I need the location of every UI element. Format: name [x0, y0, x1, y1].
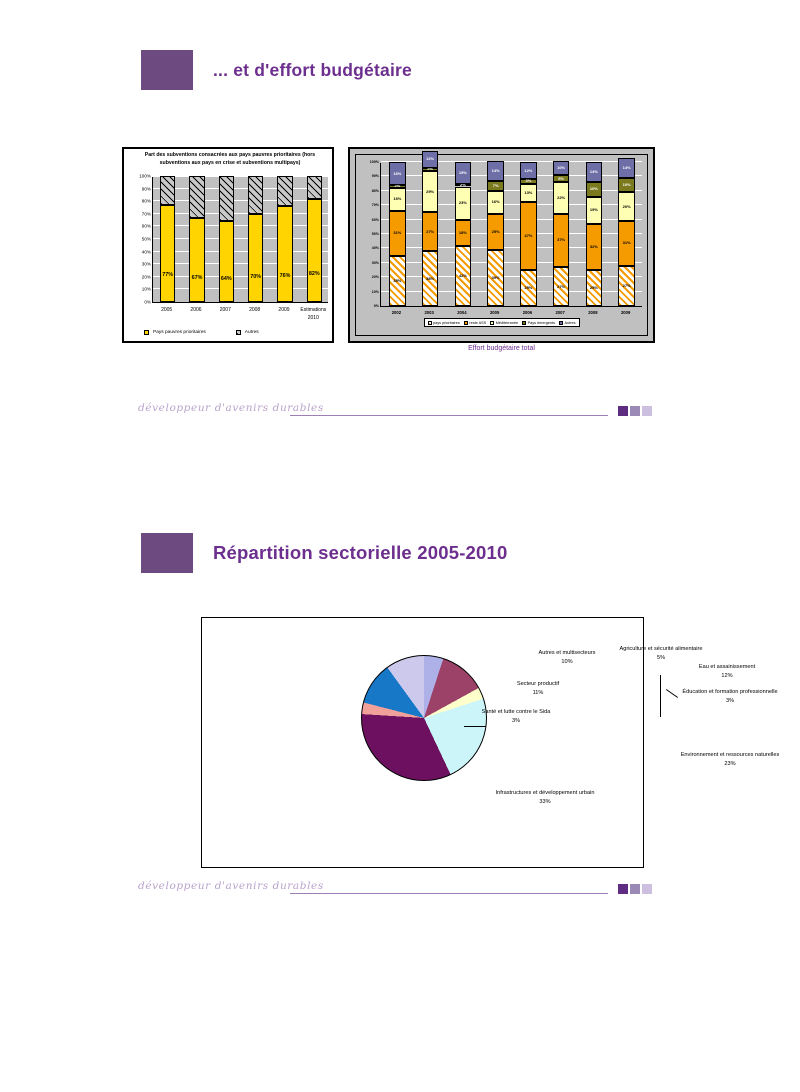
page-title: ... et d'effort budgétaire: [213, 60, 412, 81]
bar-segment: 14%: [618, 158, 634, 178]
bar-segment-pays-pauvres: 70%: [248, 214, 263, 302]
y-tick-label: 80%: [142, 199, 151, 204]
bar-segment: 27%: [422, 212, 438, 251]
y-tick-label: 60%: [372, 218, 379, 222]
y-tick-label: 0%: [374, 304, 379, 308]
gridline: [381, 175, 642, 176]
bar-segment-autres: [307, 176, 322, 199]
y-tick-label: 100%: [370, 160, 379, 164]
y-tick-label: 40%: [372, 246, 379, 250]
bar-group: 77%: [160, 177, 175, 302]
bar-segment: 35%: [389, 256, 405, 306]
bar-value-label: 5%: [558, 177, 564, 181]
footer-divider: [290, 415, 608, 416]
bar-value-label: 12%: [524, 169, 532, 173]
gridline: [381, 190, 642, 191]
bar-segment: 12%: [422, 151, 438, 168]
bar-group: 25%32%19%10%14%: [586, 163, 602, 306]
legend-label: Pays émergents: [528, 321, 555, 325]
legend-label: Méditerranée: [496, 321, 518, 325]
x-tick-label: 2005: [478, 310, 511, 315]
x-tick-label: Estimations 2010: [299, 306, 328, 322]
bar-value-label: 14%: [590, 170, 598, 174]
gridline: [153, 276, 328, 277]
bar-value-label: 10%: [590, 187, 598, 191]
bar-value-label: 22%: [557, 196, 565, 200]
y-tick-label: 20%: [372, 275, 379, 279]
bar-value-label: 67%: [190, 275, 203, 281]
bar-value-label: 16%: [393, 197, 401, 201]
x-tick-label: 2004: [446, 310, 479, 315]
chart2-plot-area: 0%10%20%30%40%50%60%70%80%90%100%35%31%1…: [380, 163, 642, 307]
x-tick-label: 2008: [577, 310, 610, 315]
footer-divider-2: [290, 893, 608, 894]
bar-value-label: 31%: [393, 231, 401, 235]
y-tick-label: 40%: [142, 249, 151, 254]
bar-group: 27%31%20%10%14%: [618, 163, 634, 306]
bar-value-label: 7%: [493, 184, 499, 188]
y-tick-label: 50%: [372, 232, 379, 236]
bar-value-label: 2%: [394, 184, 400, 188]
bar-value-label: 2%: [427, 167, 433, 171]
x-tick-label: 2002: [380, 310, 413, 315]
chart1-title: Part des subventions consacrées aux pays…: [132, 152, 328, 167]
gridline: [153, 200, 328, 201]
bar-segment: 38%: [422, 251, 438, 306]
bar-segment: 16%: [389, 162, 405, 185]
y-tick-label: 90%: [372, 174, 379, 178]
pie-slice-label: Eau et assainissement 12%: [672, 663, 782, 680]
bar-value-label: 35%: [393, 279, 401, 283]
chart2-frame: 0%10%20%30%40%50%60%70%80%90%100%35%31%1…: [355, 154, 648, 336]
bar-value-label: 16%: [492, 200, 500, 204]
y-tick-label: 30%: [372, 261, 379, 265]
bar-value-label: 16%: [393, 172, 401, 176]
legend-label-pays-pauvres: Pays pauvres prioritaires: [153, 330, 206, 335]
bar-value-label: 14%: [492, 169, 500, 173]
bar-value-label: 82%: [308, 271, 321, 277]
bar-value-label: 39%: [492, 276, 500, 280]
bar-value-label: 37%: [557, 238, 565, 242]
x-tick-label: 2007: [544, 310, 577, 315]
bar-group: 42%18%23%2%15%: [455, 163, 471, 306]
gridline: [153, 175, 328, 176]
bar-segment: 13%: [520, 184, 536, 203]
bar-value-label: 3%: [525, 179, 531, 183]
y-tick-label: 10%: [142, 287, 151, 292]
legend-label: Autres: [565, 321, 576, 325]
bar-segment: 22%: [553, 182, 569, 214]
bar-segment-autres: [189, 176, 204, 218]
bar-group: 64%: [219, 177, 234, 302]
bar-segment: 25%: [586, 270, 602, 306]
bar-value-label: 42%: [459, 274, 467, 278]
footer-slide1: développeur d'avenirs durables: [138, 404, 652, 420]
x-tick-label: 2007: [211, 306, 240, 314]
bar-segment: 16%: [389, 188, 405, 211]
gridline: [381, 262, 642, 263]
legend-item: Autres: [559, 321, 575, 325]
x-tick-label: 2006: [181, 306, 210, 314]
legend-item: Méditerranée: [490, 321, 518, 325]
footer-squares: [618, 406, 652, 416]
chart1-plot-area: 0%10%20%30%40%50%60%70%80%90%100%77%67%6…: [152, 177, 328, 303]
bar-segment: 25%: [487, 214, 503, 250]
bar-value-label: 27%: [426, 230, 434, 234]
chart-repartition-sectorielle: Agriculture et sécurité alimentaire 5%Ea…: [201, 617, 644, 868]
bar-value-label: 64%: [220, 276, 233, 282]
bar-segment: 27%: [553, 267, 569, 306]
bar-value-label: 15%: [459, 171, 467, 175]
legend-swatch: [522, 321, 526, 325]
bar-segment: 19%: [586, 197, 602, 224]
leader-line: [464, 726, 486, 727]
gridline: [381, 276, 642, 277]
y-tick-label: 100%: [139, 174, 151, 179]
bar-value-label: 25%: [524, 286, 532, 290]
bar-value-label: 25%: [492, 230, 500, 234]
bar-segment: 32%: [586, 224, 602, 270]
footer-square-2b: [630, 884, 640, 894]
header-accent-square-2: [141, 533, 193, 573]
bar-segment: 2%: [389, 185, 405, 188]
bar-segment: 29%: [422, 171, 438, 213]
slide-page: ... et d'effort budgétaire Part des subv…: [0, 0, 800, 1092]
bar-value-label: 14%: [623, 166, 631, 170]
bar-value-label: 47%: [524, 234, 532, 238]
bar-segment: 3%: [520, 179, 536, 183]
x-tick-label: 2003: [413, 310, 446, 315]
page-title-2: Répartition sectorielle 2005-2010: [213, 542, 508, 564]
bar-group: 27%37%22%5%10%: [553, 163, 569, 306]
y-tick-label: 80%: [372, 189, 379, 193]
footer-tagline: développeur d'avenirs durables: [138, 402, 324, 414]
bar-value-label: 32%: [590, 245, 598, 249]
gridline: [153, 263, 328, 264]
bar-segment: 27%: [618, 266, 634, 306]
bar-segment: 14%: [586, 162, 602, 182]
bar-segment: 2%: [422, 168, 438, 171]
footer-squares-2: [618, 884, 652, 894]
bar-segment: 2%: [455, 184, 471, 187]
bar-segment: 5%: [553, 175, 569, 182]
bar-segment: 7%: [487, 181, 503, 191]
bar-value-label: 70%: [249, 274, 262, 280]
bar-segment: 20%: [618, 192, 634, 221]
gridline: [153, 238, 328, 239]
gridline: [153, 288, 328, 289]
bar-segment: 25%: [520, 270, 536, 306]
bar-segment: 10%: [553, 161, 569, 175]
legend-item: pays prioritaires: [428, 321, 460, 325]
bar-segment: 10%: [586, 182, 602, 196]
bar-segment-pays-pauvres: 77%: [160, 205, 175, 302]
y-tick-label: 70%: [372, 203, 379, 207]
legend-label: pays prioritaires: [433, 321, 460, 325]
bar-group: 35%31%16%2%16%: [389, 163, 405, 306]
x-tick-label: 2009: [269, 306, 298, 314]
bar-group: 70%: [248, 177, 263, 302]
bar-value-label: 29%: [426, 190, 434, 194]
bar-segment: 47%: [520, 202, 536, 270]
bar-segment-autres: [248, 176, 263, 214]
y-tick-label: 10%: [372, 290, 379, 294]
y-tick-label: 60%: [142, 224, 151, 229]
bar-group: 39%25%16%7%14%: [487, 163, 503, 306]
footer-square-3b: [642, 884, 652, 894]
pie-slice-label: Santé et lutte contre le Sida 3%: [470, 708, 562, 725]
bar-segment-autres: [277, 176, 292, 206]
pie-slice-label: Agriculture et sécurité alimentaire 5%: [606, 645, 716, 662]
y-tick-label: 70%: [142, 211, 151, 216]
bar-group: 38%27%29%2%12%: [422, 163, 438, 306]
chart2-caption: Effort budgétaire total: [348, 345, 655, 352]
legend-swatch: [490, 321, 494, 325]
gridline: [153, 213, 328, 214]
bar-segment: 16%: [487, 191, 503, 214]
gridline: [381, 291, 642, 292]
bar-value-label: 76%: [278, 273, 291, 279]
bar-segment: 15%: [455, 162, 471, 184]
legend-label: reste ASS: [469, 321, 486, 325]
bar-value-label: 20%: [623, 205, 631, 209]
footer-square-3: [642, 406, 652, 416]
bar-value-label: 27%: [557, 285, 565, 289]
legend-label-autres: Autres: [245, 330, 259, 335]
slide2-header: Répartition sectorielle 2005-2010: [141, 533, 508, 573]
bar-segment-pays-pauvres: 76%: [277, 206, 292, 302]
x-tick-label: 2009: [609, 310, 642, 315]
bar-segment-pays-pauvres: 82%: [307, 199, 322, 302]
bar-segment-autres: [160, 176, 175, 205]
bar-group: 67%: [189, 177, 204, 302]
leader-line: [666, 689, 678, 698]
footer-square-1b: [618, 884, 628, 894]
bar-value-label: 10%: [623, 183, 631, 187]
bar-value-label: 18%: [459, 231, 467, 235]
bar-group: 82%: [307, 177, 322, 302]
bar-value-label: 19%: [590, 208, 598, 212]
y-tick-label: 30%: [142, 262, 151, 267]
bar-segment-autres: [219, 176, 234, 221]
bar-value-label: 12%: [426, 157, 434, 161]
bar-value-label: 10%: [557, 166, 565, 170]
bar-segment: 42%: [455, 246, 471, 306]
bar-segment: 12%: [520, 162, 536, 179]
pie-slice-label: Infrastructures et développement urbain …: [490, 789, 600, 806]
bar-value-label: 27%: [623, 284, 631, 288]
chart1-legend: Pays pauvres prioritaires Autres: [144, 330, 259, 335]
bar-value-label: 31%: [623, 241, 631, 245]
bar-value-label: 38%: [426, 277, 434, 281]
legend-item: reste ASS: [464, 321, 486, 325]
bar-segment-pays-pauvres: 64%: [219, 221, 234, 302]
footer-tagline-2: développeur d'avenirs durables: [138, 880, 324, 892]
footer-square-1: [618, 406, 628, 416]
y-tick-label: 20%: [142, 274, 151, 279]
gridline: [381, 233, 642, 234]
pie-slice-label: Autres et multisecteurs 10%: [512, 649, 622, 666]
x-tick-label: 2006: [511, 310, 544, 315]
x-tick-label: 2008: [240, 306, 269, 314]
bar-value-label: 77%: [161, 272, 174, 278]
bar-segment: 23%: [455, 187, 471, 220]
x-tick-label: 2005: [152, 306, 181, 314]
gridline: [153, 188, 328, 189]
footer-slide2: développeur d'avenirs durables: [138, 882, 652, 898]
gridline: [153, 251, 328, 252]
bar-value-label: 2%: [460, 183, 466, 187]
bar-value-label: 25%: [590, 286, 598, 290]
bar-group: 76%: [277, 177, 292, 302]
gridline: [381, 204, 642, 205]
y-tick-label: 50%: [142, 237, 151, 242]
gridline: [381, 247, 642, 248]
gridline: [381, 161, 642, 162]
legend-swatch: [559, 321, 563, 325]
legend-swatch: [428, 321, 432, 325]
legend-swatch-autres: [236, 330, 241, 335]
chart2-legend: pays prioritairesreste ASSMéditerranéePa…: [424, 318, 580, 327]
bar-value-label: 23%: [459, 201, 467, 205]
footer-square-2: [630, 406, 640, 416]
gridline: [153, 225, 328, 226]
slide1-header: ... et d'effort budgétaire: [141, 50, 412, 90]
legend-item: Pays émergents: [522, 321, 555, 325]
bar-segment-pays-pauvres: 67%: [189, 218, 204, 302]
chart-part-subventions: Part des subventions consacrées aux pays…: [122, 147, 334, 343]
leader-line: [660, 675, 661, 717]
bar-segment: 37%: [553, 214, 569, 267]
y-tick-label: 0%: [144, 300, 151, 305]
bar-segment: 14%: [487, 161, 503, 181]
bar-segment: 39%: [487, 250, 503, 306]
header-accent-square: [141, 50, 193, 90]
chart-effort-budgetaire: 0%10%20%30%40%50%60%70%80%90%100%35%31%1…: [348, 147, 655, 343]
pie-slice-label: Environnement et ressources naturelles 2…: [680, 751, 780, 768]
bar-value-label: 13%: [524, 191, 532, 195]
bar-segment: 18%: [455, 220, 471, 246]
bar-group: 25%47%13%3%12%: [520, 163, 536, 306]
pie-graphic: [361, 655, 487, 781]
bar-segment: 31%: [618, 221, 634, 266]
y-tick-label: 90%: [142, 186, 151, 191]
pie-wrapper: [361, 655, 487, 781]
bar-segment: 10%: [618, 178, 634, 192]
legend-swatch: [464, 321, 468, 325]
legend-swatch-pays-pauvres: [144, 330, 149, 335]
gridline: [381, 219, 642, 220]
bar-segment: 31%: [389, 211, 405, 256]
pie-slice-label: Éducation et formation professionnelle 3…: [680, 688, 780, 705]
pie-slice-label: Secteur productif 11%: [492, 680, 584, 697]
